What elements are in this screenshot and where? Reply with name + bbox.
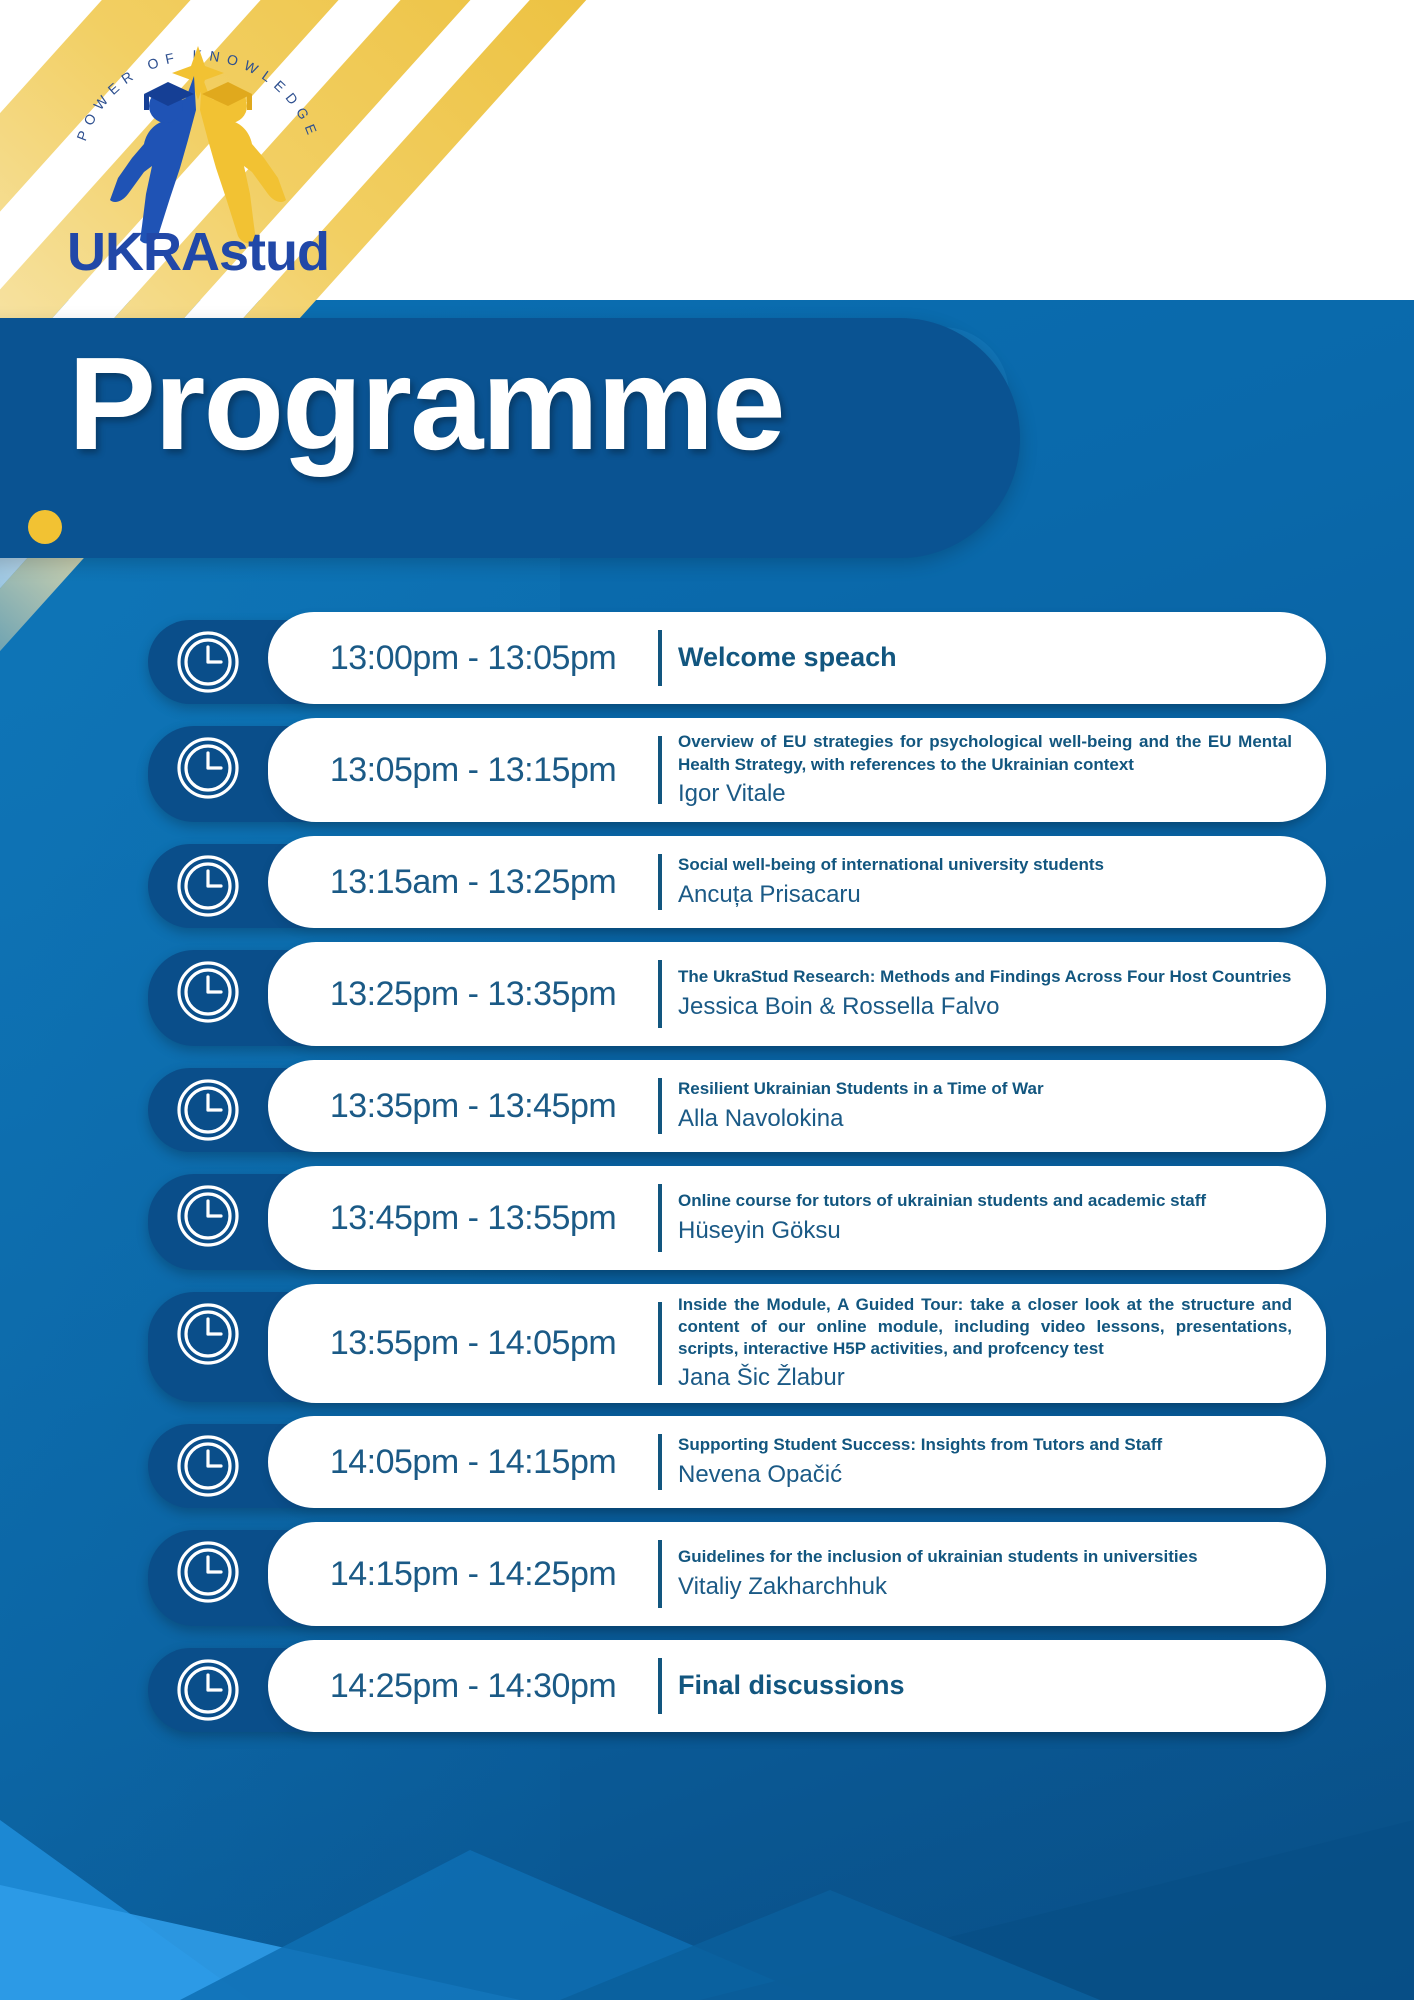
- session-title: Guidelines for the inclusion of ukrainia…: [678, 1546, 1292, 1568]
- session-speaker: Nevena Opačić: [678, 1460, 1292, 1490]
- schedule-card[interactable]: 13:55pm - 14:05pm Inside the Module, A G…: [268, 1284, 1326, 1403]
- schedule-card[interactable]: 14:25pm - 14:30pm Final discussions: [268, 1640, 1326, 1732]
- schedule-row-9[interactable]: 14:25pm - 14:30pm Final discussions: [0, 1640, 1414, 1732]
- session-body: Social well-being of international unive…: [662, 844, 1326, 919]
- session-body: Overview of EU strategies for psychologi…: [662, 721, 1326, 818]
- schedule-card[interactable]: 13:15am - 13:25pm Social well-being of i…: [268, 836, 1326, 928]
- clock-icon: [176, 1434, 240, 1498]
- programme-poster: Programme POWER OF KNOWLEDGE UKRAstud: [0, 0, 1414, 2000]
- session-body: Resilient Ukrainian Students in a Time o…: [662, 1068, 1326, 1143]
- session-body: Guidelines for the inclusion of ukrainia…: [662, 1536, 1326, 1611]
- session-time: 13:55pm - 14:05pm: [268, 1324, 658, 1363]
- session-body: Final discussions: [662, 1658, 1326, 1713]
- session-title: Resilient Ukrainian Students in a Time o…: [678, 1078, 1292, 1100]
- session-time: 14:05pm - 14:15pm: [268, 1443, 658, 1482]
- session-body: Inside the Module, A Guided Tour: take a…: [662, 1284, 1326, 1403]
- schedule-row-6[interactable]: 13:55pm - 14:05pm Inside the Module, A G…: [0, 1284, 1414, 1402]
- schedule-row-3[interactable]: 13:25pm - 13:35pm The UkraStud Research:…: [0, 942, 1414, 1046]
- schedule-card[interactable]: 13:35pm - 13:45pm Resilient Ukrainian St…: [268, 1060, 1326, 1152]
- schedule-row-2[interactable]: 13:15am - 13:25pm Social well-being of i…: [0, 836, 1414, 928]
- clock-icon: [176, 1302, 240, 1366]
- schedule-card[interactable]: 13:25pm - 13:35pm The UkraStud Research:…: [268, 942, 1326, 1046]
- schedule-card[interactable]: 13:45pm - 13:55pm Online course for tuto…: [268, 1166, 1326, 1270]
- session-title: Inside the Module, A Guided Tour: take a…: [678, 1294, 1292, 1360]
- schedule-row-1[interactable]: 13:05pm - 13:15pm Overview of EU strateg…: [0, 718, 1414, 822]
- session-speaker: Igor Vitale: [678, 779, 1292, 809]
- session-title: Overview of EU strategies for psychologi…: [678, 731, 1292, 775]
- schedule-card[interactable]: 13:05pm - 13:15pm Overview of EU strateg…: [268, 718, 1326, 822]
- svg-text:UKRAstud: UKRAstud: [67, 222, 329, 282]
- session-body: Supporting Student Success: Insights fro…: [662, 1424, 1326, 1499]
- session-title: Social well-being of international unive…: [678, 854, 1292, 876]
- clock-icon: [176, 960, 240, 1024]
- session-time: 14:15pm - 14:25pm: [268, 1555, 658, 1594]
- session-speaker: Vitaliy Zakharchhuk: [678, 1572, 1292, 1602]
- session-time: 13:35pm - 13:45pm: [268, 1087, 658, 1126]
- schedule-row-5[interactable]: 13:45pm - 13:55pm Online course for tuto…: [0, 1166, 1414, 1270]
- schedule-card[interactable]: 14:05pm - 14:15pm Supporting Student Suc…: [268, 1416, 1326, 1508]
- session-time: 13:45pm - 13:55pm: [268, 1199, 658, 1238]
- session-speaker: Jessica Boin & Rossella Falvo: [678, 992, 1292, 1022]
- page-title: Programme: [68, 338, 784, 470]
- session-title: Final discussions: [678, 1668, 1292, 1703]
- clock-icon: [176, 1184, 240, 1248]
- schedule-row-0[interactable]: 13:00pm - 13:05pm Welcome speach: [0, 612, 1414, 704]
- session-title: Supporting Student Success: Insights fro…: [678, 1434, 1292, 1456]
- schedule-card[interactable]: 14:15pm - 14:25pm Guidelines for the inc…: [268, 1522, 1326, 1626]
- session-time: 13:05pm - 13:15pm: [268, 751, 658, 790]
- session-title: Online course for tutors of ukrainian st…: [678, 1190, 1292, 1212]
- session-speaker: Alla Navolokina: [678, 1104, 1292, 1134]
- session-speaker: Hüseyin Göksu: [678, 1216, 1292, 1246]
- session-time: 13:25pm - 13:35pm: [268, 975, 658, 1014]
- session-body: Welcome speach: [662, 630, 1326, 685]
- session-title: The UkraStud Research: Methods and Findi…: [678, 966, 1292, 988]
- schedule-list: 13:00pm - 13:05pm Welcome speach 13:05pm…: [0, 612, 1414, 1746]
- clock-icon: [176, 736, 240, 800]
- session-body: Online course for tutors of ukrainian st…: [662, 1180, 1326, 1255]
- schedule-row-7[interactable]: 14:05pm - 14:15pm Supporting Student Suc…: [0, 1416, 1414, 1508]
- schedule-card[interactable]: 13:00pm - 13:05pm Welcome speach: [268, 612, 1326, 704]
- session-time: 13:00pm - 13:05pm: [268, 639, 658, 678]
- session-speaker: Ancuța Prisacaru: [678, 880, 1292, 910]
- schedule-row-4[interactable]: 13:35pm - 13:45pm Resilient Ukrainian St…: [0, 1060, 1414, 1152]
- session-time: 14:25pm - 14:30pm: [268, 1667, 658, 1706]
- session-body: The UkraStud Research: Methods and Findi…: [662, 956, 1326, 1031]
- ukrastud-logo: POWER OF KNOWLEDGE UKRAstud: [48, 18, 348, 283]
- schedule-row-8[interactable]: 14:15pm - 14:25pm Guidelines for the inc…: [0, 1522, 1414, 1626]
- clock-icon: [176, 1540, 240, 1604]
- title-accent-dot: [28, 510, 62, 544]
- session-title: Welcome speach: [678, 640, 1292, 675]
- clock-icon: [176, 630, 240, 694]
- session-time: 13:15am - 13:25pm: [268, 863, 658, 902]
- session-speaker: Jana Šic Žlabur: [678, 1363, 1292, 1393]
- clock-icon: [176, 1658, 240, 1722]
- clock-icon: [176, 854, 240, 918]
- clock-icon: [176, 1078, 240, 1142]
